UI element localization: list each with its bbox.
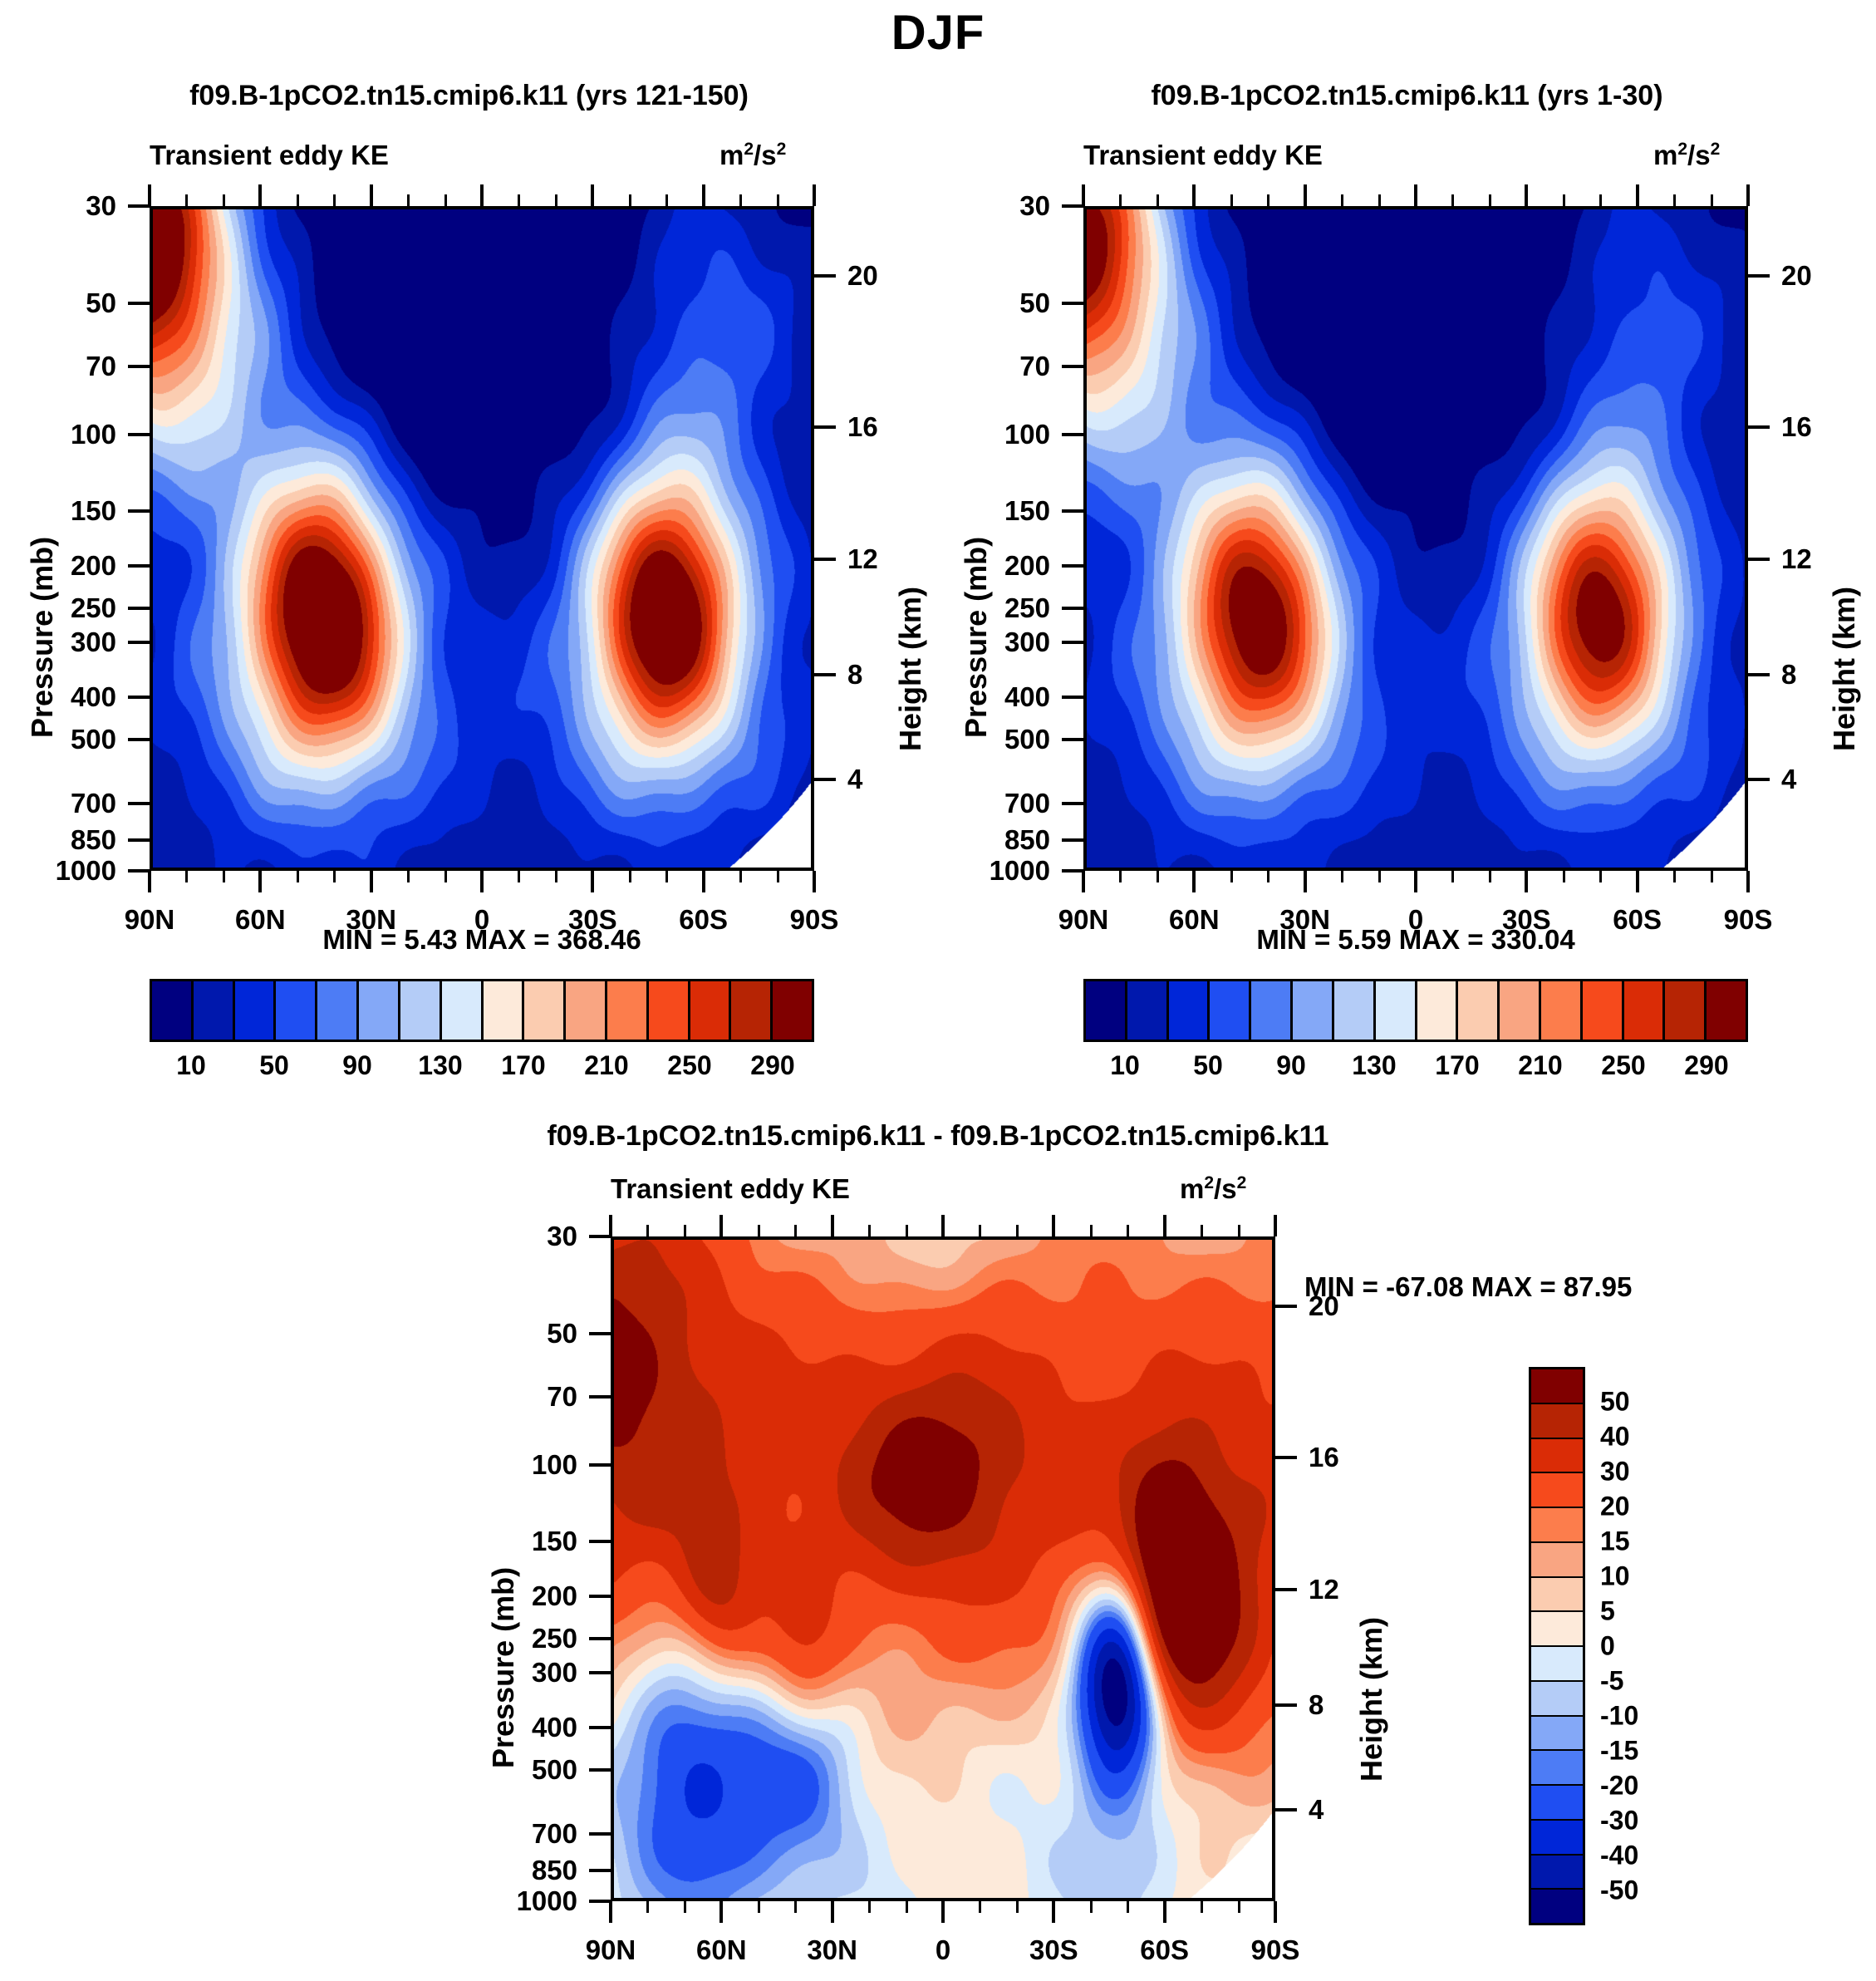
- panel-diff-ytick-500: [589, 1768, 611, 1772]
- panel-left-ytick-500: [128, 738, 150, 741]
- panel-left-xtick-30S: [591, 871, 594, 892]
- panel-left-xtick-minor-top: [223, 194, 225, 206]
- panel-diff-ylabel-700: 700: [478, 1818, 577, 1850]
- panel-diff-y2axis-title: Height (km): [1354, 1617, 1389, 1782]
- panel-left-colorbar-cell: [731, 981, 773, 1040]
- panel-right-xtick-0: [1414, 871, 1417, 892]
- panel-diff-colorbar-cell: [1531, 1717, 1583, 1752]
- panel-left-plot-area[interactable]: [150, 206, 814, 871]
- panel-left-colorbar-cell: [773, 981, 812, 1040]
- panel-left-ylabel-70: 70: [17, 351, 116, 382]
- panel-right-y2label-4: 4: [1781, 764, 1856, 795]
- panel-left-colorbar-label-210: 210: [584, 1050, 628, 1081]
- panel-left-ylabel-50: 50: [17, 288, 116, 319]
- panel-diff-y2tick-8: [1275, 1703, 1297, 1707]
- panel-diff-colorbar-label-neg5: -5: [1600, 1666, 1692, 1697]
- panel-right-xtick-minor: [1230, 871, 1233, 882]
- panel-right-y2label-20: 20: [1781, 260, 1856, 292]
- panel-diff-xlabel-90N: 90N: [586, 1934, 636, 1966]
- panel-left-subtitle: Transient eddy KE: [150, 140, 389, 171]
- panel-diff-colorbar-cell: [1531, 1439, 1583, 1474]
- panel-left-ytick-700: [128, 802, 150, 805]
- panel-left-xtick-minor-top: [739, 194, 742, 206]
- panel-right-xtick-60S: [1636, 871, 1639, 892]
- panel-left-colorbar-label-130: 130: [418, 1050, 462, 1081]
- panel-left-xtick-minor: [444, 871, 447, 882]
- panel-left-xlabel-30N: 30N: [346, 904, 396, 936]
- panel-left-xtick-minor: [518, 871, 520, 882]
- panel-diff-colorbar-label-neg40: -40: [1600, 1841, 1692, 1871]
- panel-diff-colorbar-label-20: 20: [1600, 1492, 1692, 1522]
- panel-left-xtick-minor: [739, 871, 742, 882]
- panel-diff-xtick-minor: [684, 1901, 686, 1913]
- panel-diff-ylabel-850: 850: [478, 1855, 577, 1886]
- panel-diff-xtick-top-90S: [1274, 1215, 1277, 1236]
- panel-left-ytick-300: [128, 641, 150, 644]
- panel-left-xtick-minor: [297, 871, 299, 882]
- panel-diff-xtick-top-60N: [719, 1215, 723, 1236]
- panel-left-ytick-250: [128, 607, 150, 610]
- panel-left-xtick-minor-top: [333, 194, 336, 206]
- panel-right-ylabel-1000: 1000: [950, 855, 1050, 887]
- panel-right-xtick-top-30S: [1525, 184, 1528, 206]
- panel-diff-xtick-0: [941, 1901, 945, 1923]
- panel-right-title: f09.B-1pCO2.tn15.cmip6.k11 (yrs 1-30): [938, 80, 1876, 112]
- panel-right-xtick-minor-top: [1599, 194, 1602, 206]
- panel-diff-xlabel-30S: 30S: [1029, 1934, 1078, 1966]
- panel-diff-xtick-minor-top: [906, 1225, 908, 1236]
- panel-diff-xtick-minor: [794, 1901, 797, 1913]
- panel-right-colorbar-label-50: 50: [1193, 1050, 1223, 1081]
- panel-left-ylabel-150: 150: [17, 495, 116, 527]
- panel-right-xtick-minor: [1563, 871, 1565, 882]
- panel-diff-xtick-minor: [1090, 1901, 1093, 1913]
- panel-left-ytick-1000: [128, 869, 150, 873]
- panel-diff-ytick-1000: [589, 1900, 611, 1903]
- panel-diff-colorbar-label-0: 0: [1600, 1631, 1692, 1662]
- panel-right-xlabel-60S: 60S: [1613, 904, 1662, 936]
- panel-right-xtick-minor: [1157, 871, 1159, 882]
- panel-diff-ylabel-30: 30: [478, 1221, 577, 1252]
- panel-right-colorbar-cell: [1376, 981, 1417, 1040]
- panel-right-xtick-minor-top: [1230, 194, 1233, 206]
- panel-diff-xtick-30S: [1052, 1901, 1055, 1923]
- panel-left-xtick-top-60S: [702, 184, 705, 206]
- panel-right-colorbar-cell: [1624, 981, 1666, 1040]
- panel-right-colorbar[interactable]: [1083, 979, 1748, 1042]
- panel-diff-xtick-minor: [1016, 1901, 1019, 1913]
- panel-right-xtick-minor-top: [1673, 194, 1676, 206]
- panel-left-colorbar-cell: [235, 981, 277, 1040]
- panel-right-colorbar-cell: [1707, 981, 1746, 1040]
- panel-diff-plot-area[interactable]: [611, 1236, 1275, 1901]
- panel-left-xtick-60N: [258, 871, 262, 892]
- panel-diff-xtick-minor: [758, 1901, 760, 1913]
- panel-left-xtick-top-90N: [148, 184, 151, 206]
- panel-left-xtick-0: [480, 871, 484, 892]
- panel-left-xtick-90S: [813, 871, 816, 892]
- panel-right-ytick-1000: [1062, 869, 1083, 873]
- panel-left-y2tick-20: [814, 274, 836, 278]
- panel-right-xtick-minor-top: [1489, 194, 1491, 206]
- panel-right-y2tick-12: [1748, 558, 1770, 561]
- panel-left-colorbar-cell: [484, 981, 525, 1040]
- panel-right-xtick-minor-top: [1711, 194, 1713, 206]
- panel-left-xtick-minor: [555, 871, 557, 882]
- panel-diff-xtick-minor-top: [1090, 1225, 1093, 1236]
- panel-diff-xlabel-0: 0: [936, 1934, 950, 1966]
- panel-right-contour-field: [1087, 209, 1745, 868]
- panel-right-xlabel-90S: 90S: [1724, 904, 1773, 936]
- panel-left-xtick-minor: [185, 871, 188, 882]
- panel-diff-contour-field: [614, 1240, 1272, 1898]
- panel-diff-ytick-150: [589, 1540, 611, 1543]
- panel-right-ytick-30: [1062, 204, 1083, 208]
- panel-left-colorbar-cell: [359, 981, 400, 1040]
- panel-left-xtick-top-30S: [591, 184, 594, 206]
- panel-diff-ytick-400: [589, 1726, 611, 1729]
- panel-left-ytick-200: [128, 564, 150, 568]
- panel-right-xtick-60N: [1192, 871, 1196, 892]
- panel-right-xtick-top-60S: [1636, 184, 1639, 206]
- panel-left-title: f09.B-1pCO2.tn15.cmip6.k11 (yrs 121-150): [0, 80, 938, 112]
- panel-right-ylabel-150: 150: [950, 495, 1050, 527]
- panel-diff-colorbar-cell: [1531, 1751, 1583, 1786]
- panel-diff-xtick-top-0: [941, 1215, 945, 1236]
- panel-left-y2label-16: 16: [847, 411, 922, 443]
- panel-left-xtick-minor: [223, 871, 225, 882]
- panel-right-ytick-50: [1062, 302, 1083, 305]
- panel-left-xlabel-90N: 90N: [125, 904, 175, 936]
- panel-right-ytick-250: [1062, 607, 1083, 610]
- panel-left-xtick-minor-top: [297, 194, 299, 206]
- panel-diff-xtick-90N: [609, 1901, 612, 1923]
- panel-left-colorbar-label-50: 50: [259, 1050, 289, 1081]
- panel-left-colorbar-cell: [152, 981, 194, 1040]
- panel-diff-y2tick-20: [1275, 1305, 1297, 1308]
- panel-diff-ylabel-150: 150: [478, 1526, 577, 1557]
- panel-right-y2tick-4: [1748, 778, 1770, 781]
- panel-diff-colorbar[interactable]: [1529, 1367, 1585, 1925]
- panel-right-xtick-minor: [1711, 871, 1713, 882]
- panel-right-xtick-minor: [1489, 871, 1491, 882]
- panel-left-y2tick-4: [814, 778, 836, 781]
- panel-right-xtick-minor-top: [1267, 194, 1269, 206]
- panel-right-y2tick-20: [1748, 274, 1770, 278]
- panel-diff-colorbar-cell: [1531, 1578, 1583, 1613]
- panel-diff-xtick-minor: [868, 1901, 871, 1913]
- panel-diff-colorbar-cell: [1531, 1786, 1583, 1821]
- panel-diff-colorbar-label-15: 15: [1600, 1526, 1692, 1557]
- panel-right-xlabel-0: 0: [1408, 904, 1423, 936]
- panel-right-xtick-minor: [1599, 871, 1602, 882]
- panel-diff-colorbar-cell: [1531, 1647, 1583, 1682]
- panel-diff-units: m2/s2: [1180, 1173, 1246, 1205]
- panel-right-xtick-90N: [1082, 871, 1085, 892]
- panel-right-y2tick-8: [1748, 673, 1770, 676]
- panel-left-xtick-minor: [665, 871, 668, 882]
- panel-left-ytick-150: [128, 509, 150, 513]
- panel-diff-ytick-850: [589, 1869, 611, 1872]
- panel-diff-colorbar-cell: [1531, 1856, 1583, 1890]
- panel-diff-colorbar-cell: [1531, 1404, 1583, 1439]
- panel-diff-xtick-minor: [646, 1901, 649, 1913]
- panel-right-xtick-minor: [1267, 871, 1269, 882]
- panel-diff-colorbar-label-40: 40: [1600, 1422, 1692, 1453]
- panel-diff-y2label-4: 4: [1309, 1794, 1383, 1826]
- panel-right-y2tick-16: [1748, 425, 1770, 429]
- panel-left-xlabel-30S: 30S: [568, 904, 617, 936]
- panel-left-xtick-minor-top: [518, 194, 520, 206]
- panel-right-colorbar-label-290: 290: [1684, 1050, 1728, 1081]
- panel-left-colorbar-label-290: 290: [750, 1050, 794, 1081]
- panel-left-xtick-minor-top: [444, 194, 447, 206]
- panel-right-colorbar-cell: [1583, 981, 1624, 1040]
- panel-right-xtick-minor: [1451, 871, 1454, 882]
- panel-diff-colorbar-cell: [1531, 1612, 1583, 1647]
- panel-diff-ytick-250: [589, 1637, 611, 1640]
- panel-left-yaxis-title: Pressure (mb): [25, 537, 60, 738]
- panel-right-xtick-minor-top: [1563, 194, 1565, 206]
- panel-right-y2axis-title: Height (km): [1827, 587, 1862, 751]
- panel-diff-xtick-top-60S: [1163, 1215, 1166, 1236]
- panel-right-colorbar-cell: [1334, 981, 1376, 1040]
- panel-diff-xtick-minor: [1201, 1901, 1203, 1913]
- panel-right-colorbar-label-250: 250: [1601, 1050, 1645, 1081]
- panel-diff-ytick-70: [589, 1395, 611, 1398]
- panel-right-colorbar-cell: [1086, 981, 1127, 1040]
- panel-left-xlabel-90S: 90S: [790, 904, 839, 936]
- panel-right-xtick-90S: [1746, 871, 1750, 892]
- panel-left-colorbar-label-10: 10: [176, 1050, 206, 1081]
- panel-diff-xlabel-30N: 30N: [807, 1934, 857, 1966]
- panel-left-colorbar-cell: [607, 981, 649, 1040]
- panel-diff-title: f09.B-1pCO2.tn15.cmip6.k11 - f09.B-1pCO2…: [0, 1120, 1876, 1153]
- panel-diff-xtick-30N: [831, 1901, 834, 1923]
- panel-left-xtick-minor-top: [665, 194, 668, 206]
- panel-diff-xtick-minor: [1238, 1901, 1240, 1913]
- panel-right-xtick-minor-top: [1119, 194, 1122, 206]
- panel-right-xtick-top-0: [1414, 184, 1417, 206]
- panel-diff-xtick-60N: [719, 1901, 723, 1923]
- panel-right-colorbar-cell: [1127, 981, 1169, 1040]
- panel-left-xtick-90N: [148, 871, 151, 892]
- panel-diff-xlabel-60N: 60N: [696, 1934, 747, 1966]
- panel-diff-colorbar-cell: [1531, 1508, 1583, 1543]
- panel-diff-xtick-minor-top: [1127, 1225, 1129, 1236]
- panel-diff-y2tick-16: [1275, 1456, 1297, 1459]
- panel-left-y2label-12: 12: [847, 543, 922, 575]
- panel-left-colorbar-cell: [690, 981, 732, 1040]
- panel-diff-colorbar-cell: [1531, 1543, 1583, 1578]
- panel-left-colorbar-cell: [524, 981, 566, 1040]
- panel-diff-ytick-50: [589, 1332, 611, 1335]
- panel-right-ylabel-30: 30: [950, 190, 1050, 222]
- panel-diff-y2label-12: 12: [1309, 1574, 1383, 1605]
- panel-right-xtick-minor: [1341, 871, 1343, 882]
- panel-left-xtick-minor: [333, 871, 336, 882]
- panel-left-ylabel-1000: 1000: [17, 855, 116, 887]
- panel-left-xlabel-0: 0: [474, 904, 489, 936]
- panel-left-xtick-minor-top: [407, 194, 410, 206]
- panel-right-yaxis-title: Pressure (mb): [959, 537, 994, 738]
- panel-left-ytick-400: [128, 696, 150, 699]
- panel-left-ylabel-30: 30: [17, 190, 116, 222]
- panel-right-xtick-minor-top: [1157, 194, 1159, 206]
- panel-right-xtick-30N: [1304, 871, 1307, 892]
- panel-diff-colorbar-cell: [1531, 1821, 1583, 1856]
- panel-left-xtick-top-0: [480, 184, 484, 206]
- panel-diff-xtick-minor: [1127, 1901, 1129, 1913]
- panel-diff-xtick-minor-top: [868, 1225, 871, 1236]
- panel-left-ytick-70: [128, 365, 150, 368]
- panel-diff-y2label-20: 20: [1309, 1290, 1383, 1322]
- panel-left-xtick-top-30N: [370, 184, 373, 206]
- panel-left-y2label-20: 20: [847, 260, 922, 292]
- panel-diff-xtick-minor-top: [646, 1225, 649, 1236]
- panel-left-y2tick-16: [814, 425, 836, 429]
- panel-right-xtick-minor-top: [1341, 194, 1343, 206]
- panel-right-ylabel-50: 50: [950, 288, 1050, 319]
- panel-diff-ylabel-70: 70: [478, 1381, 577, 1413]
- panel-left-xlabel-60N: 60N: [235, 904, 286, 936]
- panel-diff-xtick-60S: [1163, 1901, 1166, 1923]
- panel-left-colorbar-cell: [400, 981, 442, 1040]
- panel-left-ylabel-700: 700: [17, 788, 116, 819]
- panel-diff-xtick-minor-top: [1238, 1225, 1240, 1236]
- panel-right-ytick-300: [1062, 641, 1083, 644]
- panel-right-ytick-100: [1062, 433, 1083, 436]
- panel-right-colorbar-cell: [1500, 981, 1541, 1040]
- panel-diff-ytick-30: [589, 1235, 611, 1238]
- panel-right-colorbar-label-90: 90: [1276, 1050, 1306, 1081]
- panel-left-colorbar-cell: [649, 981, 690, 1040]
- panel-left-colorbar-cell: [566, 981, 607, 1040]
- panel-right-subtitle: Transient eddy KE: [1083, 140, 1323, 171]
- panel-diff-xtick-minor-top: [1016, 1225, 1019, 1236]
- panel-right-xtick-minor: [1119, 871, 1122, 882]
- panel-right-colorbar-cell: [1458, 981, 1500, 1040]
- panel-left-xtick-minor: [407, 871, 410, 882]
- panel-left-xtick-minor-top: [777, 194, 779, 206]
- panel-diff-colorbar-cell: [1531, 1473, 1583, 1508]
- panel-left-ytick-30: [128, 204, 150, 208]
- panel-right-ylabel-70: 70: [950, 351, 1050, 382]
- panel-left-ylabel-850: 850: [17, 824, 116, 856]
- panel-diff-ytick-200: [589, 1595, 611, 1598]
- panel-diff-xlabel-60S: 60S: [1140, 1934, 1189, 1966]
- panel-diff-colorbar-cell: [1531, 1369, 1583, 1404]
- panel-left-xtick-30N: [370, 871, 373, 892]
- panel-left-y2tick-12: [814, 558, 836, 561]
- panel-right-colorbar-cell: [1169, 981, 1211, 1040]
- panel-diff-colorbar-label-neg10: -10: [1600, 1701, 1692, 1732]
- panel-left-xtick-60S: [702, 871, 705, 892]
- panel-right-xlabel-90N: 90N: [1058, 904, 1109, 936]
- panel-right-y2label-16: 16: [1781, 411, 1856, 443]
- panel-diff-xtick-minor-top: [684, 1225, 686, 1236]
- panel-right-ytick-500: [1062, 738, 1083, 741]
- panel-diff-xtick-minor-top: [758, 1225, 760, 1236]
- panel-diff-colorbar-label-neg15: -15: [1600, 1736, 1692, 1767]
- panel-diff-ylabel-1000: 1000: [478, 1885, 577, 1917]
- panel-left-contour-field: [153, 209, 811, 868]
- panel-diff-xtick-minor-top: [979, 1225, 981, 1236]
- panel-right-xtick-minor: [1378, 871, 1381, 882]
- panel-right-y2label-12: 12: [1781, 543, 1856, 575]
- panel-diff-colorbar-label-30: 30: [1600, 1457, 1692, 1487]
- panel-diff-colorbar-label-10: 10: [1600, 1561, 1692, 1592]
- panel-left-xtick-minor: [629, 871, 631, 882]
- panel-right-colorbar-label-210: 210: [1518, 1050, 1562, 1081]
- panel-left-xtick-top-60N: [258, 184, 262, 206]
- panel-right-xtick-top-60N: [1192, 184, 1196, 206]
- panel-left-xtick-minor-top: [555, 194, 557, 206]
- panel-diff-xtick-minor: [906, 1901, 908, 1913]
- panel-diff-subtitle: Transient eddy KE: [611, 1173, 850, 1205]
- panel-left-ylabel-100: 100: [17, 419, 116, 450]
- panel-right-xtick-minor-top: [1451, 194, 1454, 206]
- panel-right-xlabel-30N: 30N: [1279, 904, 1330, 936]
- panel-diff-ylabel-50: 50: [478, 1318, 577, 1349]
- panel-right-ytick-850: [1062, 838, 1083, 842]
- panel-diff-xtick-minor-top: [1201, 1225, 1203, 1236]
- panel-right-colorbar-cell: [1665, 981, 1707, 1040]
- panel-left-colorbar-cell: [442, 981, 484, 1040]
- panel-diff-ytick-300: [589, 1671, 611, 1674]
- panel-right-ylabel-100: 100: [950, 419, 1050, 450]
- panel-right-ytick-150: [1062, 509, 1083, 513]
- panel-right-colorbar-label-10: 10: [1110, 1050, 1140, 1081]
- panel-left-xtick-minor-top: [185, 194, 188, 206]
- panel-right-xlabel-60N: 60N: [1169, 904, 1220, 936]
- panel-left-colorbar-cell: [317, 981, 359, 1040]
- panel-right-xtick-30S: [1525, 871, 1528, 892]
- panel-left-y2tick-8: [814, 673, 836, 676]
- panel-diff-colorbar-label-neg50: -50: [1600, 1875, 1692, 1906]
- panel-right-colorbar-cell: [1293, 981, 1334, 1040]
- panel-right-units: m2/s2: [1653, 140, 1720, 171]
- panel-right-colorbar-cell: [1210, 981, 1251, 1040]
- panel-left-colorbar-cell: [194, 981, 235, 1040]
- panel-left-xtick-top-90S: [813, 184, 816, 206]
- panel-left-colorbar-label-90: 90: [342, 1050, 372, 1081]
- panel-right-xtick-minor-top: [1378, 194, 1381, 206]
- panel-right-colorbar-label-170: 170: [1435, 1050, 1479, 1081]
- panel-right-xtick-top-30N: [1304, 184, 1307, 206]
- panel-right-ytick-400: [1062, 696, 1083, 699]
- panel-diff-colorbar-label-50: 50: [1600, 1387, 1692, 1418]
- panel-diff-colorbar-cell: [1531, 1682, 1583, 1717]
- panel-right-colorbar-cell: [1251, 981, 1293, 1040]
- panel-diff-xtick-minor-top: [794, 1225, 797, 1236]
- panel-right-ytick-70: [1062, 365, 1083, 368]
- panel-left-colorbar[interactable]: [150, 979, 814, 1042]
- panel-diff-ytick-100: [589, 1463, 611, 1467]
- panel-left-xtick-minor: [777, 871, 779, 882]
- panel-right-ytick-700: [1062, 802, 1083, 805]
- panel-diff-y2tick-12: [1275, 1588, 1297, 1591]
- panel-diff-yaxis-title: Pressure (mb): [486, 1567, 521, 1768]
- panel-right-colorbar-cell: [1417, 981, 1459, 1040]
- panel-diff-xtick-top-30N: [831, 1215, 834, 1236]
- panel-right-ytick-200: [1062, 564, 1083, 568]
- panel-right-plot-area[interactable]: [1083, 206, 1748, 871]
- panel-right-xtick-top-90S: [1746, 184, 1750, 206]
- panel-left-ytick-850: [128, 838, 150, 842]
- panel-diff-xtick-top-90N: [609, 1215, 612, 1236]
- panel-right-colorbar-label-130: 130: [1352, 1050, 1396, 1081]
